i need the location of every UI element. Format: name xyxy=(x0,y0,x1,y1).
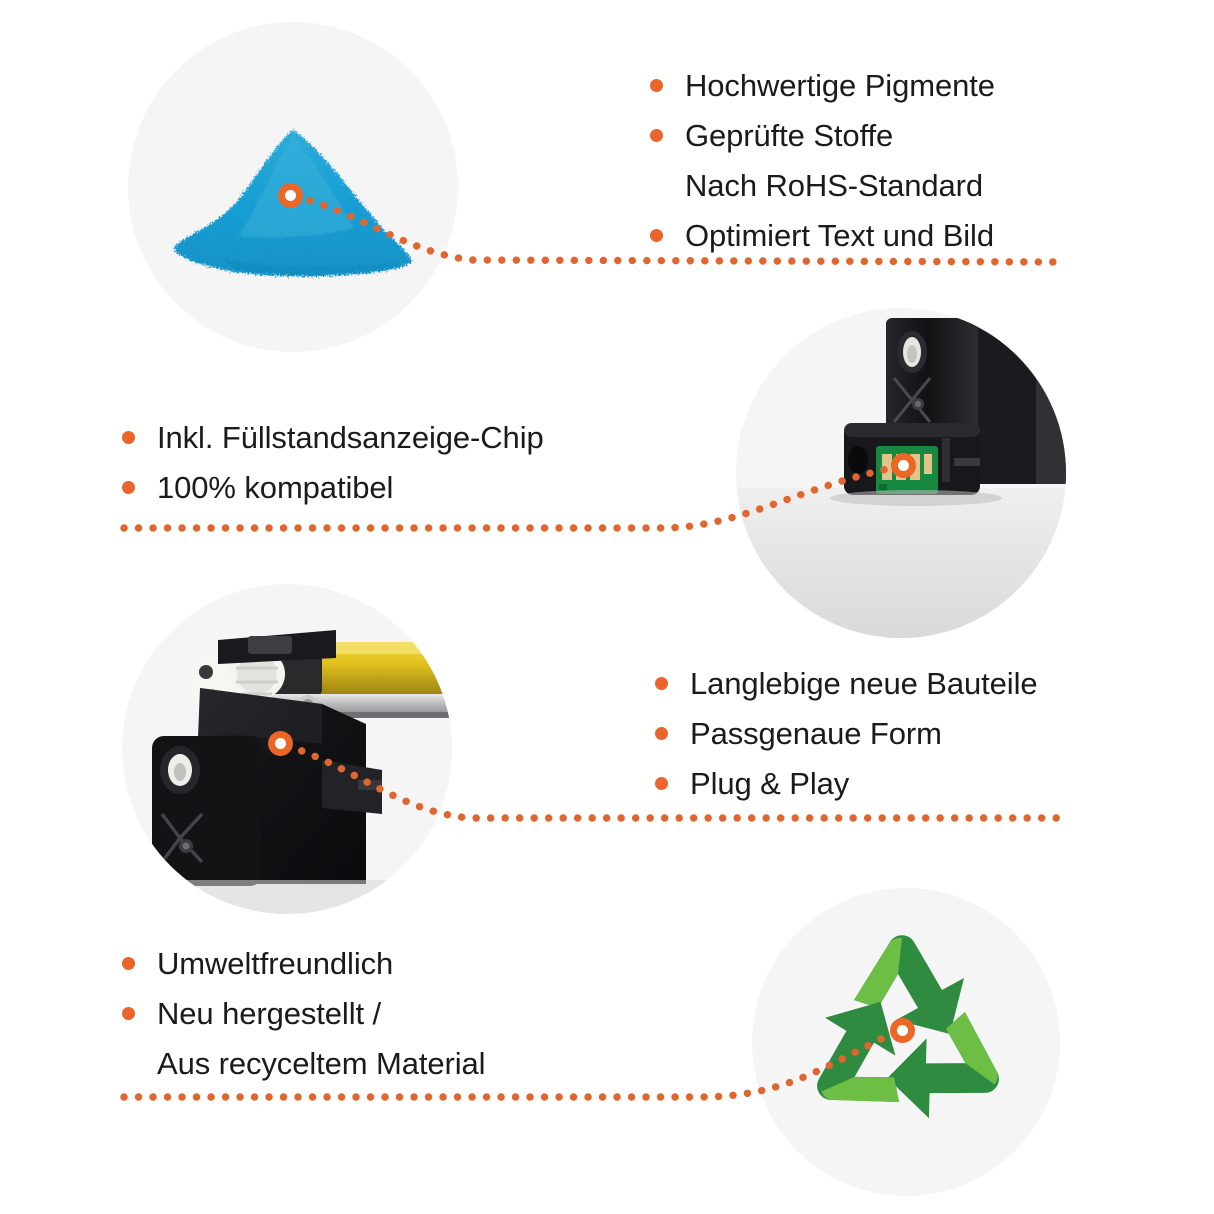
bullet-icon xyxy=(650,229,663,242)
feature-line: Langlebige neue Bauteile xyxy=(655,664,1038,703)
feature-line: Plug & Play xyxy=(655,764,1038,803)
feature-block-components: Langlebige neue Bauteile Passgenaue Form… xyxy=(655,664,1038,814)
anchor-marker-powder xyxy=(278,183,303,208)
feature-text: Umweltfreundlich xyxy=(157,944,393,983)
bullet-icon xyxy=(655,777,668,790)
feature-text: Nach RoHS-Standard xyxy=(685,166,983,205)
feature-text: Optimiert Text und Bild xyxy=(685,216,994,255)
feature-text: 100% kompatibel xyxy=(157,468,393,507)
anchor-marker-chip xyxy=(891,453,916,478)
feature-text: Neu hergestellt / xyxy=(157,994,381,1033)
feature-text: Geprüfte Stoffe xyxy=(685,116,893,155)
bullet-icon xyxy=(122,1007,135,1020)
feature-text: Langlebige neue Bauteile xyxy=(690,664,1038,703)
bullet-icon xyxy=(122,431,135,444)
anchor-marker-recycling xyxy=(890,1018,915,1043)
feature-block-eco: Umweltfreundlich Neu hergestellt / Aus r… xyxy=(122,944,485,1094)
feature-line: Inkl. Füllstandsanzeige-Chip xyxy=(122,418,544,457)
bullet-icon xyxy=(655,677,668,690)
feature-block-pigments: Hochwertige Pigmente Geprüfte Stoffe Nac… xyxy=(650,66,995,266)
feature-line: Geprüfte Stoffe xyxy=(650,116,995,155)
feature-text: Plug & Play xyxy=(690,764,849,803)
feature-line: Optimiert Text und Bild xyxy=(650,216,995,255)
infographic-page: Hochwertige Pigmente Geprüfte Stoffe Nac… xyxy=(0,0,1214,1214)
feature-text: Hochwertige Pigmente xyxy=(685,66,995,105)
feature-text: Aus recyceltem Material xyxy=(157,1044,485,1083)
bullet-icon-placeholder xyxy=(650,179,663,192)
feature-line: Nach RoHS-Standard xyxy=(650,166,995,205)
bullet-icon xyxy=(650,79,663,92)
bullet-icon xyxy=(650,129,663,142)
bullet-icon xyxy=(655,727,668,740)
feature-block-chip: Inkl. Füllstandsanzeige-Chip 100% kompat… xyxy=(122,418,544,518)
feature-line: Passgenaue Form xyxy=(655,714,1038,753)
feature-text: Passgenaue Form xyxy=(690,714,942,753)
bullet-icon-placeholder xyxy=(122,1057,135,1070)
feature-line: Hochwertige Pigmente xyxy=(650,66,995,105)
anchor-marker-drum xyxy=(268,731,293,756)
feature-line: 100% kompatibel xyxy=(122,468,544,507)
feature-line: Aus recyceltem Material xyxy=(122,1044,485,1083)
feature-line: Neu hergestellt / xyxy=(122,994,485,1033)
bullet-icon xyxy=(122,481,135,494)
bullet-icon xyxy=(122,957,135,970)
feature-line: Umweltfreundlich xyxy=(122,944,485,983)
feature-text: Inkl. Füllstandsanzeige-Chip xyxy=(157,418,544,457)
